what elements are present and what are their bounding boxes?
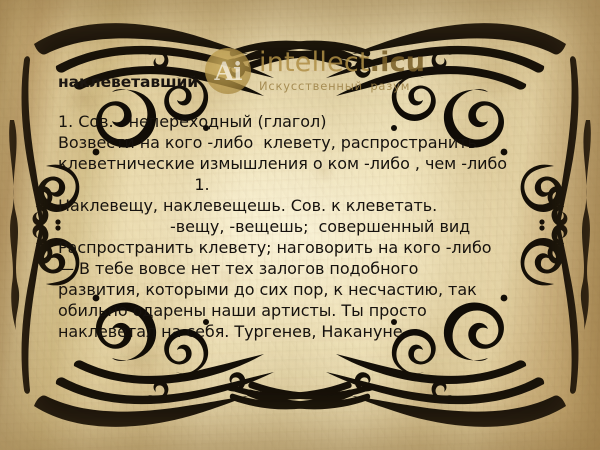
dictionary-entry-text: 1. Сов. непереходный (глагол)Возвести на… [58,111,558,342]
entry-line: -вещу, -вещешь; совершенный вид [58,216,558,237]
entry-line: клеветнические измышления о ком -либо , … [58,153,558,174]
entry-line: Наклевещу, наклевещешь. Сов. к клеветать… [58,195,558,216]
parchment-page: Ai intellect.icu Искусственный разум нак… [0,0,600,450]
entry-line: 1. Сов. непереходный (глагол) [58,111,558,132]
entry-content: наклеветавший 1. Сов. непереходный (глаг… [0,0,600,450]
entry-line: наклеветал на себя. Тургенев, Накануне. [58,321,558,342]
entry-line: — В тебе вовсе нет тех залогов подобного [58,258,558,279]
entry-line: развития, которыми до сих пор, к несчаст… [58,279,558,300]
entry-line: Возвести на кого -либо клевету, распрост… [58,132,558,153]
entry-line: 1. [58,174,346,195]
page-title: наклеветавший [58,73,198,91]
entry-line: Распространить клевету; наговорить на ко… [58,237,558,258]
entry-line: обильно одарены наши артисты. Ты просто [58,300,558,321]
